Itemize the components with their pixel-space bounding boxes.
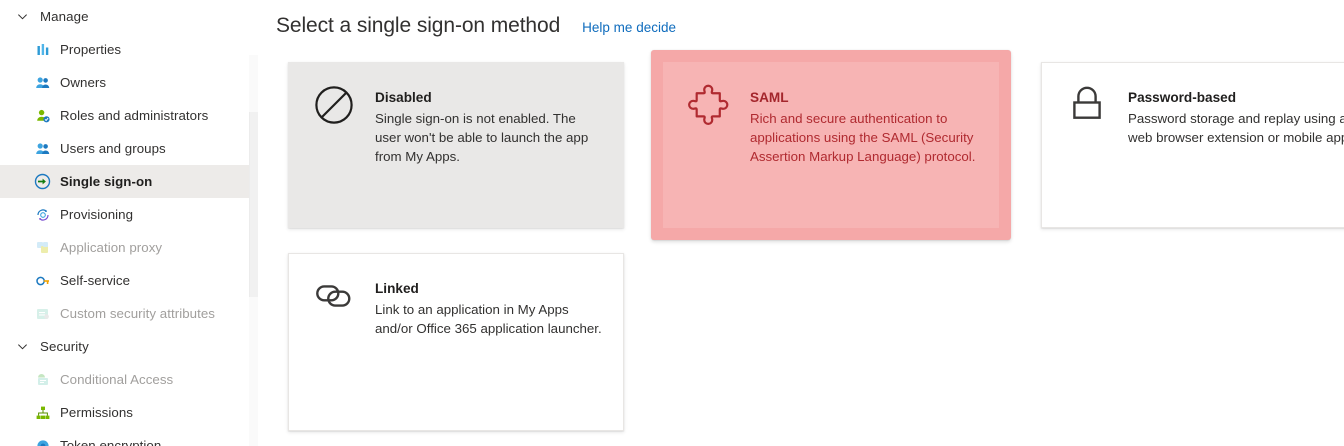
sso-method-card-disabled[interactable]: Disabled Single sign-on is not enabled. … [276,50,636,240]
sidebar-item-users-and-groups[interactable]: Users and groups [0,132,258,165]
sidebar-item-owners[interactable]: Owners [0,66,258,99]
sso-method-card-saml[interactable]: SAML Rich and secure authentication to a… [651,50,1011,240]
sidebar-item-properties[interactable]: Properties [0,33,258,66]
sidebar-scrollbar-track[interactable] [249,55,258,446]
sidebar-item-label: Users and groups [60,141,166,156]
card-surface: Password-based Password storage and repl… [1041,62,1344,228]
card-text: Disabled Single sign-on is not enabled. … [375,87,605,166]
chevron-down-icon [13,338,31,356]
card-row-2: Linked Link to an application in My Apps… [276,253,1344,431]
sidebar-scrollbar-thumb[interactable] [249,112,258,297]
card-description: Password storage and replay using a web … [1128,109,1344,147]
card-title: Disabled [375,88,605,107]
lock-icon [1064,84,1110,130]
chain-link-icon [311,275,357,321]
card-text: SAML Rich and secure authentication to a… [750,87,980,166]
card-text: Password-based Password storage and repl… [1128,87,1344,147]
sidebar-item-provisioning[interactable]: Provisioning [0,198,258,231]
sso-method-card-grid: Disabled Single sign-on is not enabled. … [276,50,1344,431]
conditional-access-icon [34,371,51,388]
properties-icon [34,41,51,58]
application-proxy-icon [34,239,51,256]
sidebar-item-label: Provisioning [60,207,133,222]
sidebar-item-label: Permissions [60,405,133,420]
owners-icon [34,74,51,91]
left-navigation-pane: Manage Properties Owners [0,0,258,446]
permissions-icon [34,404,51,421]
sidebar-item-label: Application proxy [60,240,162,255]
sidebar-item-label: Single sign-on [60,174,152,189]
page-header: Select a single sign-on method Help me d… [276,0,1344,38]
card-description: Single sign-on is not enabled. The user … [375,109,605,166]
no-entry-icon [311,84,357,130]
custom-attributes-icon [34,305,51,322]
token-encryption-icon [34,437,51,446]
card-title: SAML [750,88,980,107]
sidebar-item-custom-security-attributes[interactable]: Custom security attributes [0,297,258,330]
sidebar-item-single-sign-on[interactable]: Single sign-on [0,165,258,198]
sso-method-card-linked[interactable]: Linked Link to an application in My Apps… [288,253,624,431]
card-description: Link to an application in My Apps and/or… [375,300,605,338]
card-surface: Disabled Single sign-on is not enabled. … [288,62,624,228]
sidebar-item-label: Conditional Access [60,372,173,387]
users-groups-icon [34,140,51,157]
single-sign-on-icon [34,173,51,190]
card-row-1: Disabled Single sign-on is not enabled. … [276,50,1344,240]
sidebar-item-label: Custom security attributes [60,306,215,321]
card-surface: Linked Link to an application in My Apps… [288,253,624,431]
sidebar-item-permissions[interactable]: Permissions [0,396,258,429]
chevron-down-icon [13,8,31,26]
sidebar-item-self-service[interactable]: Self-service [0,264,258,297]
card-text: Linked Link to an application in My Apps… [375,278,605,338]
nav-group-security[interactable]: Security [0,330,258,363]
nav-group-manage[interactable]: Manage [0,0,258,33]
sso-method-page: Manage Properties Owners [0,0,1344,446]
card-title: Password-based [1128,88,1344,107]
nav-group-label: Manage [40,9,89,24]
page-title: Select a single sign-on method [276,14,560,38]
help-me-decide-link[interactable]: Help me decide [582,20,676,35]
sidebar-item-label: Owners [60,75,106,90]
sidebar-item-label: Roles and administrators [60,108,208,123]
sidebar-item-label: Properties [60,42,121,57]
sidebar-item-label: Self-service [60,273,130,288]
roles-icon [34,107,51,124]
card-description: Rich and secure authentication to applic… [750,109,980,166]
main-content: Select a single sign-on method Help me d… [258,0,1344,446]
sidebar-item-label: Token encryption [60,438,161,446]
provisioning-icon [34,206,51,223]
sidebar-item-roles-and-administrators[interactable]: Roles and administrators [0,99,258,132]
sso-method-card-password-based[interactable]: Password-based Password storage and repl… [1029,50,1344,240]
card-surface: SAML Rich and secure authentication to a… [663,62,999,228]
puzzle-piece-icon [686,84,732,130]
card-title: Linked [375,279,605,298]
sidebar-item-application-proxy[interactable]: Application proxy [0,231,258,264]
sidebar-item-token-encryption[interactable]: Token encryption [0,429,258,446]
nav-group-label: Security [40,339,89,354]
sidebar-item-conditional-access[interactable]: Conditional Access [0,363,258,396]
self-service-icon [34,272,51,289]
